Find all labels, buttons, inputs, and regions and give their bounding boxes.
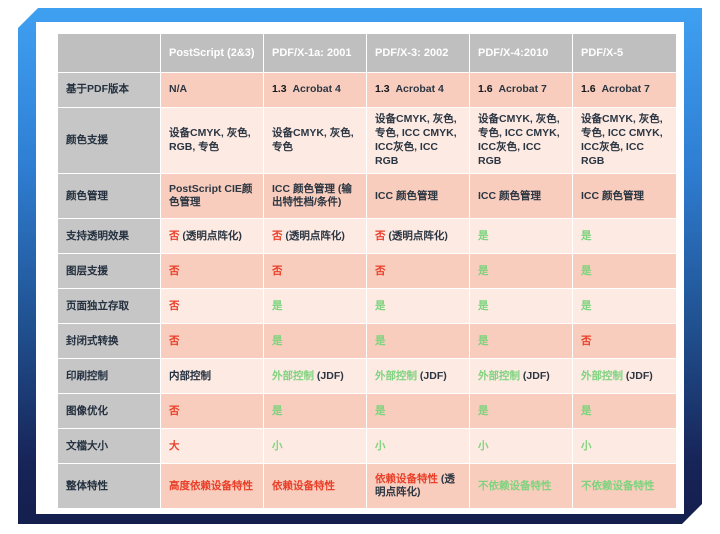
- cell-flag-value: 小: [478, 440, 489, 452]
- table-cell: N/A: [161, 73, 263, 107]
- table-cell: 否: [264, 254, 366, 288]
- table-cell: 1.3 Acrobat 4: [367, 73, 469, 107]
- cell-flag-value: 是: [581, 300, 592, 312]
- cell-flag-value: 小: [581, 440, 592, 452]
- table-cell: 否 (透明点阵化): [264, 219, 366, 253]
- cell-flag-value: 外部控制: [478, 370, 520, 382]
- table-cell: 外部控制 (JDF): [264, 359, 366, 393]
- cell-version-text: Acrobat 7: [498, 83, 546, 95]
- table-cell: 否: [573, 324, 676, 358]
- cell-flag-value: 否: [272, 265, 283, 277]
- table-row: 文檔大小大小小小小: [58, 429, 676, 463]
- comparison-table: PostScript (2&3) PDF/X-1a: 2001 PDF/X-3:…: [57, 33, 677, 509]
- header-cell-pdfx5: PDF/X-5: [573, 34, 676, 72]
- cell-flag-value: 否: [272, 230, 283, 242]
- cell-text: ICC 颜色管理: [581, 190, 644, 202]
- cell-text: 设备CMYK, 灰色, RGB, 专色: [169, 127, 251, 153]
- cell-text: PostScript CIE颜色管理: [169, 183, 252, 209]
- table-cell: 否 (透明点阵化): [367, 219, 469, 253]
- cell-flag-value: 是: [478, 335, 489, 347]
- cell-flag-note: (JDF): [626, 370, 653, 382]
- row-label: 支持透明效果: [58, 219, 160, 253]
- cell-flag-note: (透明点阵化): [388, 230, 448, 242]
- table-row: 图层支援否否否是是: [58, 254, 676, 288]
- table-row: 颜色管理PostScript CIE颜色管理ICC 颜色管理 (输出特性档/条件…: [58, 174, 676, 218]
- table-cell: 外部控制 (JDF): [367, 359, 469, 393]
- table-cell: 大: [161, 429, 263, 463]
- cell-flag-value: 是: [272, 300, 283, 312]
- table-cell: 设备CMYK, 灰色, 专色, ICC CMYK, ICC灰色, ICC RGB: [470, 108, 572, 173]
- table-cell: 小: [367, 429, 469, 463]
- table-cell: 1.3 Acrobat 4: [264, 73, 366, 107]
- cell-flag-note: (透明点阵化): [285, 230, 345, 242]
- row-label: 封闭式转换: [58, 324, 160, 358]
- table-cell: 是: [573, 394, 676, 428]
- cell-flag-value: 否: [169, 405, 180, 417]
- table-cell: 外部控制 (JDF): [470, 359, 572, 393]
- table-cell: 小: [573, 429, 676, 463]
- cell-flag-value: 大: [169, 440, 180, 452]
- table-cell: 是: [367, 394, 469, 428]
- table-header-row: PostScript (2&3) PDF/X-1a: 2001 PDF/X-3:…: [58, 34, 676, 72]
- table-row: 页面独立存取否是是是是: [58, 289, 676, 323]
- cell-text: 设备CMYK, 灰色, 专色: [272, 127, 354, 153]
- table-cell: 不依赖设备特性: [470, 464, 572, 508]
- cell-flag-value: 不依赖设备特性: [478, 480, 552, 492]
- table-cell: 依赖设备特性: [264, 464, 366, 508]
- table-cell: ICC 颜色管理: [367, 174, 469, 218]
- table-cell: 否: [161, 289, 263, 323]
- cell-flag-value: 是: [581, 405, 592, 417]
- cell-flag-value: 否: [169, 265, 180, 277]
- table-cell: 否: [367, 254, 469, 288]
- table-cell: 小: [470, 429, 572, 463]
- header-cell-postscript: PostScript (2&3): [161, 34, 263, 72]
- row-label: 整体特性: [58, 464, 160, 508]
- cell-flag-value: 不依赖设备特性: [581, 480, 655, 492]
- table-cell: 是: [573, 219, 676, 253]
- cell-version-number: 1.6: [478, 83, 493, 95]
- cell-flag-value: 是: [272, 405, 283, 417]
- cell-version-text: N/A: [169, 83, 187, 95]
- row-label: 页面独立存取: [58, 289, 160, 323]
- row-label: 基于PDF版本: [58, 73, 160, 107]
- table-cell: 是: [470, 219, 572, 253]
- cell-flag-value: 高度依赖设备特性: [169, 480, 253, 492]
- table-cell: 否: [161, 254, 263, 288]
- cell-text: 设备CMYK, 灰色, 专色, ICC CMYK, ICC灰色, ICC RGB: [478, 113, 560, 167]
- table-cell: 是: [264, 394, 366, 428]
- table-cell: 设备CMYK, 灰色, 专色: [264, 108, 366, 173]
- table-cell: 高度依赖设备特性: [161, 464, 263, 508]
- row-label: 文檔大小: [58, 429, 160, 463]
- table-header: PostScript (2&3) PDF/X-1a: 2001 PDF/X-3:…: [58, 34, 676, 72]
- cell-flag-value: 否: [581, 335, 592, 347]
- cell-flag-value: 依赖设备特性: [375, 473, 438, 485]
- cell-flag-value: 小: [272, 440, 283, 452]
- header-cell-pdfx4: PDF/X-4:2010: [470, 34, 572, 72]
- table-cell: 依赖设备特性 (透明点阵化): [367, 464, 469, 508]
- table-row: 图像优化否是是是是: [58, 394, 676, 428]
- cell-version-text: Acrobat 4: [292, 83, 340, 95]
- table-row: 颜色支援设备CMYK, 灰色, RGB, 专色设备CMYK, 灰色, 专色设备C…: [58, 108, 676, 173]
- header-cell-pdfx1a: PDF/X-1a: 2001: [264, 34, 366, 72]
- cell-version-text: Acrobat 7: [601, 83, 649, 95]
- cell-flag-value: 否: [375, 265, 386, 277]
- cell-flag-value: 是: [375, 405, 386, 417]
- cell-version-number: 1.3: [272, 83, 287, 95]
- table-cell: 1.6 Acrobat 7: [470, 73, 572, 107]
- row-label: 颜色支援: [58, 108, 160, 173]
- cell-flag-value: 否: [375, 230, 386, 242]
- table-cell: 是: [264, 289, 366, 323]
- row-label: 图层支援: [58, 254, 160, 288]
- cell-text: 设备CMYK, 灰色, 专色, ICC CMYK, ICC灰色, ICC RGB: [581, 113, 663, 167]
- cell-flag-value: 外部控制: [375, 370, 417, 382]
- cell-flag-value: 小: [375, 440, 386, 452]
- cell-version-text: Acrobat 4: [395, 83, 443, 95]
- table-cell: 是: [470, 324, 572, 358]
- cell-text: 设备CMYK, 灰色, 专色, ICC CMYK, ICC灰色, ICC RGB: [375, 113, 457, 167]
- cell-text: ICC 颜色管理: [375, 190, 438, 202]
- cell-flag-value: 是: [478, 230, 489, 242]
- cell-version-number: 1.3: [375, 83, 390, 95]
- row-label: 颜色管理: [58, 174, 160, 218]
- table-cell: 设备CMYK, 灰色, RGB, 专色: [161, 108, 263, 173]
- cell-flag-value: 否: [169, 300, 180, 312]
- cell-flag-value: 是: [375, 300, 386, 312]
- table-cell: 小: [264, 429, 366, 463]
- table-cell: ICC 颜色管理 (输出特性档/条件): [264, 174, 366, 218]
- table-cell: 内部控制: [161, 359, 263, 393]
- table-body: 基于PDF版本N/A1.3 Acrobat 41.3 Acrobat 41.6 …: [58, 73, 676, 508]
- slide-canvas: PostScript (2&3) PDF/X-1a: 2001 PDF/X-3:…: [0, 0, 720, 534]
- table-cell: 否: [161, 324, 263, 358]
- table-cell: 设备CMYK, 灰色, 专色, ICC CMYK, ICC灰色, ICC RGB: [573, 108, 676, 173]
- header-cell-pdfx3: PDF/X-3: 2002: [367, 34, 469, 72]
- table-cell: 是: [573, 254, 676, 288]
- cell-flag-value: 内部控制: [169, 370, 211, 382]
- cell-text: ICC 颜色管理: [478, 190, 541, 202]
- table-cell: 是: [367, 289, 469, 323]
- table-cell: 是: [470, 289, 572, 323]
- table-cell: 外部控制 (JDF): [573, 359, 676, 393]
- table-cell: 设备CMYK, 灰色, 专色, ICC CMYK, ICC灰色, ICC RGB: [367, 108, 469, 173]
- cell-flag-note: (透明点阵化): [182, 230, 242, 242]
- cell-flag-value: 外部控制: [581, 370, 623, 382]
- table-cell: 是: [264, 324, 366, 358]
- cell-flag-value: 是: [272, 335, 283, 347]
- table-cell: 不依赖设备特性: [573, 464, 676, 508]
- table-row: 印刷控制内部控制外部控制 (JDF)外部控制 (JDF)外部控制 (JDF)外部…: [58, 359, 676, 393]
- cell-flag-value: 依赖设备特性: [272, 480, 335, 492]
- table-cell: 1.6 Acrobat 7: [573, 73, 676, 107]
- row-label: 图像优化: [58, 394, 160, 428]
- cell-flag-value: 外部控制: [272, 370, 314, 382]
- header-cell-corner: [58, 34, 160, 72]
- table-cell: 是: [573, 289, 676, 323]
- cell-flag-value: 是: [478, 265, 489, 277]
- cell-flag-value: 是: [478, 300, 489, 312]
- cell-flag-value: 是: [375, 335, 386, 347]
- table-cell: 否 (透明点阵化): [161, 219, 263, 253]
- table-cell: ICC 颜色管理: [573, 174, 676, 218]
- cell-flag-value: 是: [581, 230, 592, 242]
- cell-flag-value: 否: [169, 335, 180, 347]
- table-row: 整体特性高度依赖设备特性依赖设备特性依赖设备特性 (透明点阵化)不依赖设备特性不…: [58, 464, 676, 508]
- table-cell: PostScript CIE颜色管理: [161, 174, 263, 218]
- cell-flag-note: (JDF): [523, 370, 550, 382]
- cell-version-number: 1.6: [581, 83, 596, 95]
- cell-flag-value: 是: [581, 265, 592, 277]
- table-row: 支持透明效果否 (透明点阵化)否 (透明点阵化)否 (透明点阵化)是是: [58, 219, 676, 253]
- table-cell: ICC 颜色管理: [470, 174, 572, 218]
- table-row: 封闭式转换否是是是否: [58, 324, 676, 358]
- cell-flag-value: 是: [478, 405, 489, 417]
- table-cell: 是: [470, 394, 572, 428]
- cell-text: ICC 颜色管理 (输出特性档/条件): [272, 183, 352, 209]
- cell-flag-note: (JDF): [317, 370, 344, 382]
- table-cell: 否: [161, 394, 263, 428]
- row-label: 印刷控制: [58, 359, 160, 393]
- cell-flag-note: (JDF): [420, 370, 447, 382]
- table-cell: 是: [470, 254, 572, 288]
- cell-flag-value: 否: [169, 230, 180, 242]
- table-row: 基于PDF版本N/A1.3 Acrobat 41.3 Acrobat 41.6 …: [58, 73, 676, 107]
- pdf-standards-comparison-table: PostScript (2&3) PDF/X-1a: 2001 PDF/X-3:…: [57, 33, 673, 521]
- table-cell: 是: [367, 324, 469, 358]
